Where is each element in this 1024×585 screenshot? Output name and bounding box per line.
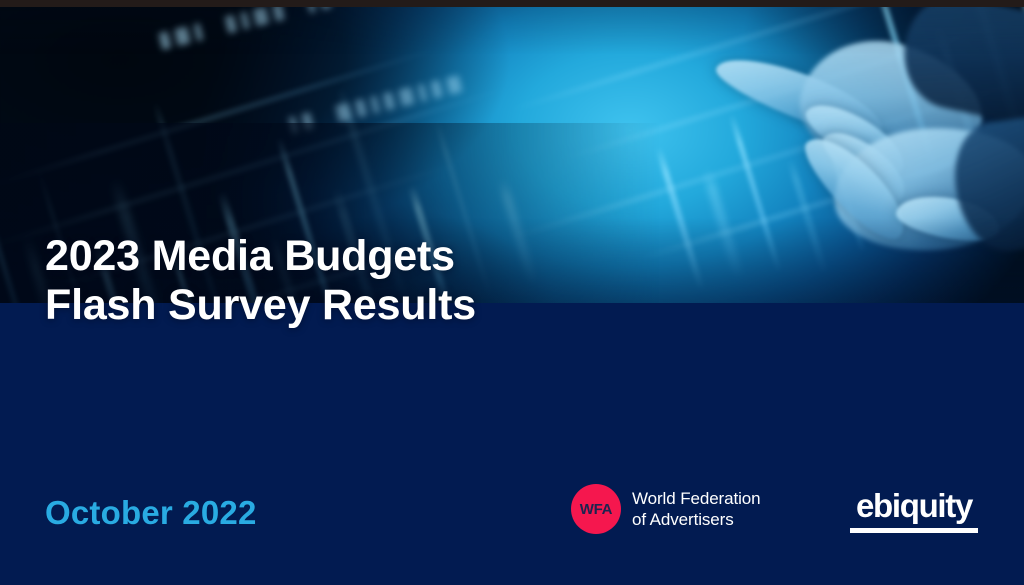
lower-navy-panel (0, 303, 1024, 585)
title-line-1: 2023 Media Budgets (45, 232, 455, 280)
title-line-2: Flash Survey Results (45, 281, 476, 329)
ebiquity-wordmark: ebiquity (846, 489, 982, 523)
wfa-name: World Federationof Advertisers (632, 488, 760, 530)
wfa-name-line-1: World Federation (632, 489, 760, 508)
top-edge-strip (0, 0, 1024, 7)
wfa-name-line-2: of Advertisers (632, 510, 734, 529)
page-title: 2023 Media BudgetsFlash Survey Results (45, 232, 476, 330)
wfa-logo: WFA World Federationof Advertisers (571, 484, 760, 534)
ebiquity-logo: ebiquity (846, 489, 982, 533)
title-slide: 2023 Media BudgetsFlash Survey Results O… (0, 0, 1024, 585)
hero-hands (604, 0, 1024, 303)
ebiquity-underline-rule (850, 528, 978, 533)
wfa-circle-mark: WFA (571, 484, 621, 534)
wfa-monogram: WFA (580, 501, 612, 518)
date-label: October 2022 (45, 494, 257, 532)
